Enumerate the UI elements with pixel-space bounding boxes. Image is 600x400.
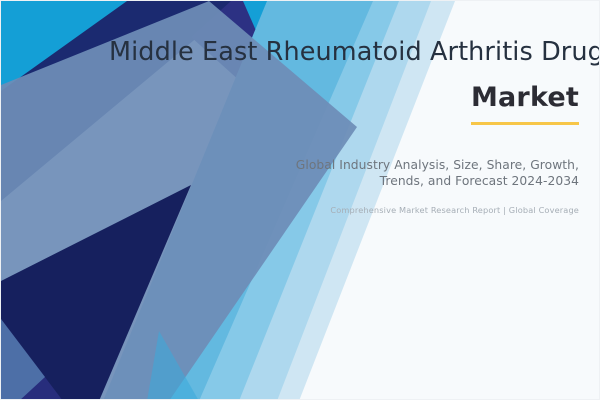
page-title-accent-wrap: Market <box>109 81 579 125</box>
page-title-accent: Market <box>471 81 579 125</box>
report-cover-page: Middle East Rheumatoid Arthritis Drug Ma… <box>0 0 600 400</box>
page-title-primary: Middle East Rheumatoid Arthritis Drug <box>109 35 579 69</box>
report-subtitle-line-1: Global Industry Analysis, Size, Share, G… <box>109 158 579 174</box>
report-subtitle: Global Industry Analysis, Size, Share, G… <box>109 158 579 189</box>
report-tagline: Comprehensive Market Research Report | G… <box>109 205 579 216</box>
cover-text-block: Middle East Rheumatoid Arthritis Drug Ma… <box>109 35 579 216</box>
report-subtitle-line-2: Trends, and Forecast 2024-2034 <box>109 174 579 190</box>
